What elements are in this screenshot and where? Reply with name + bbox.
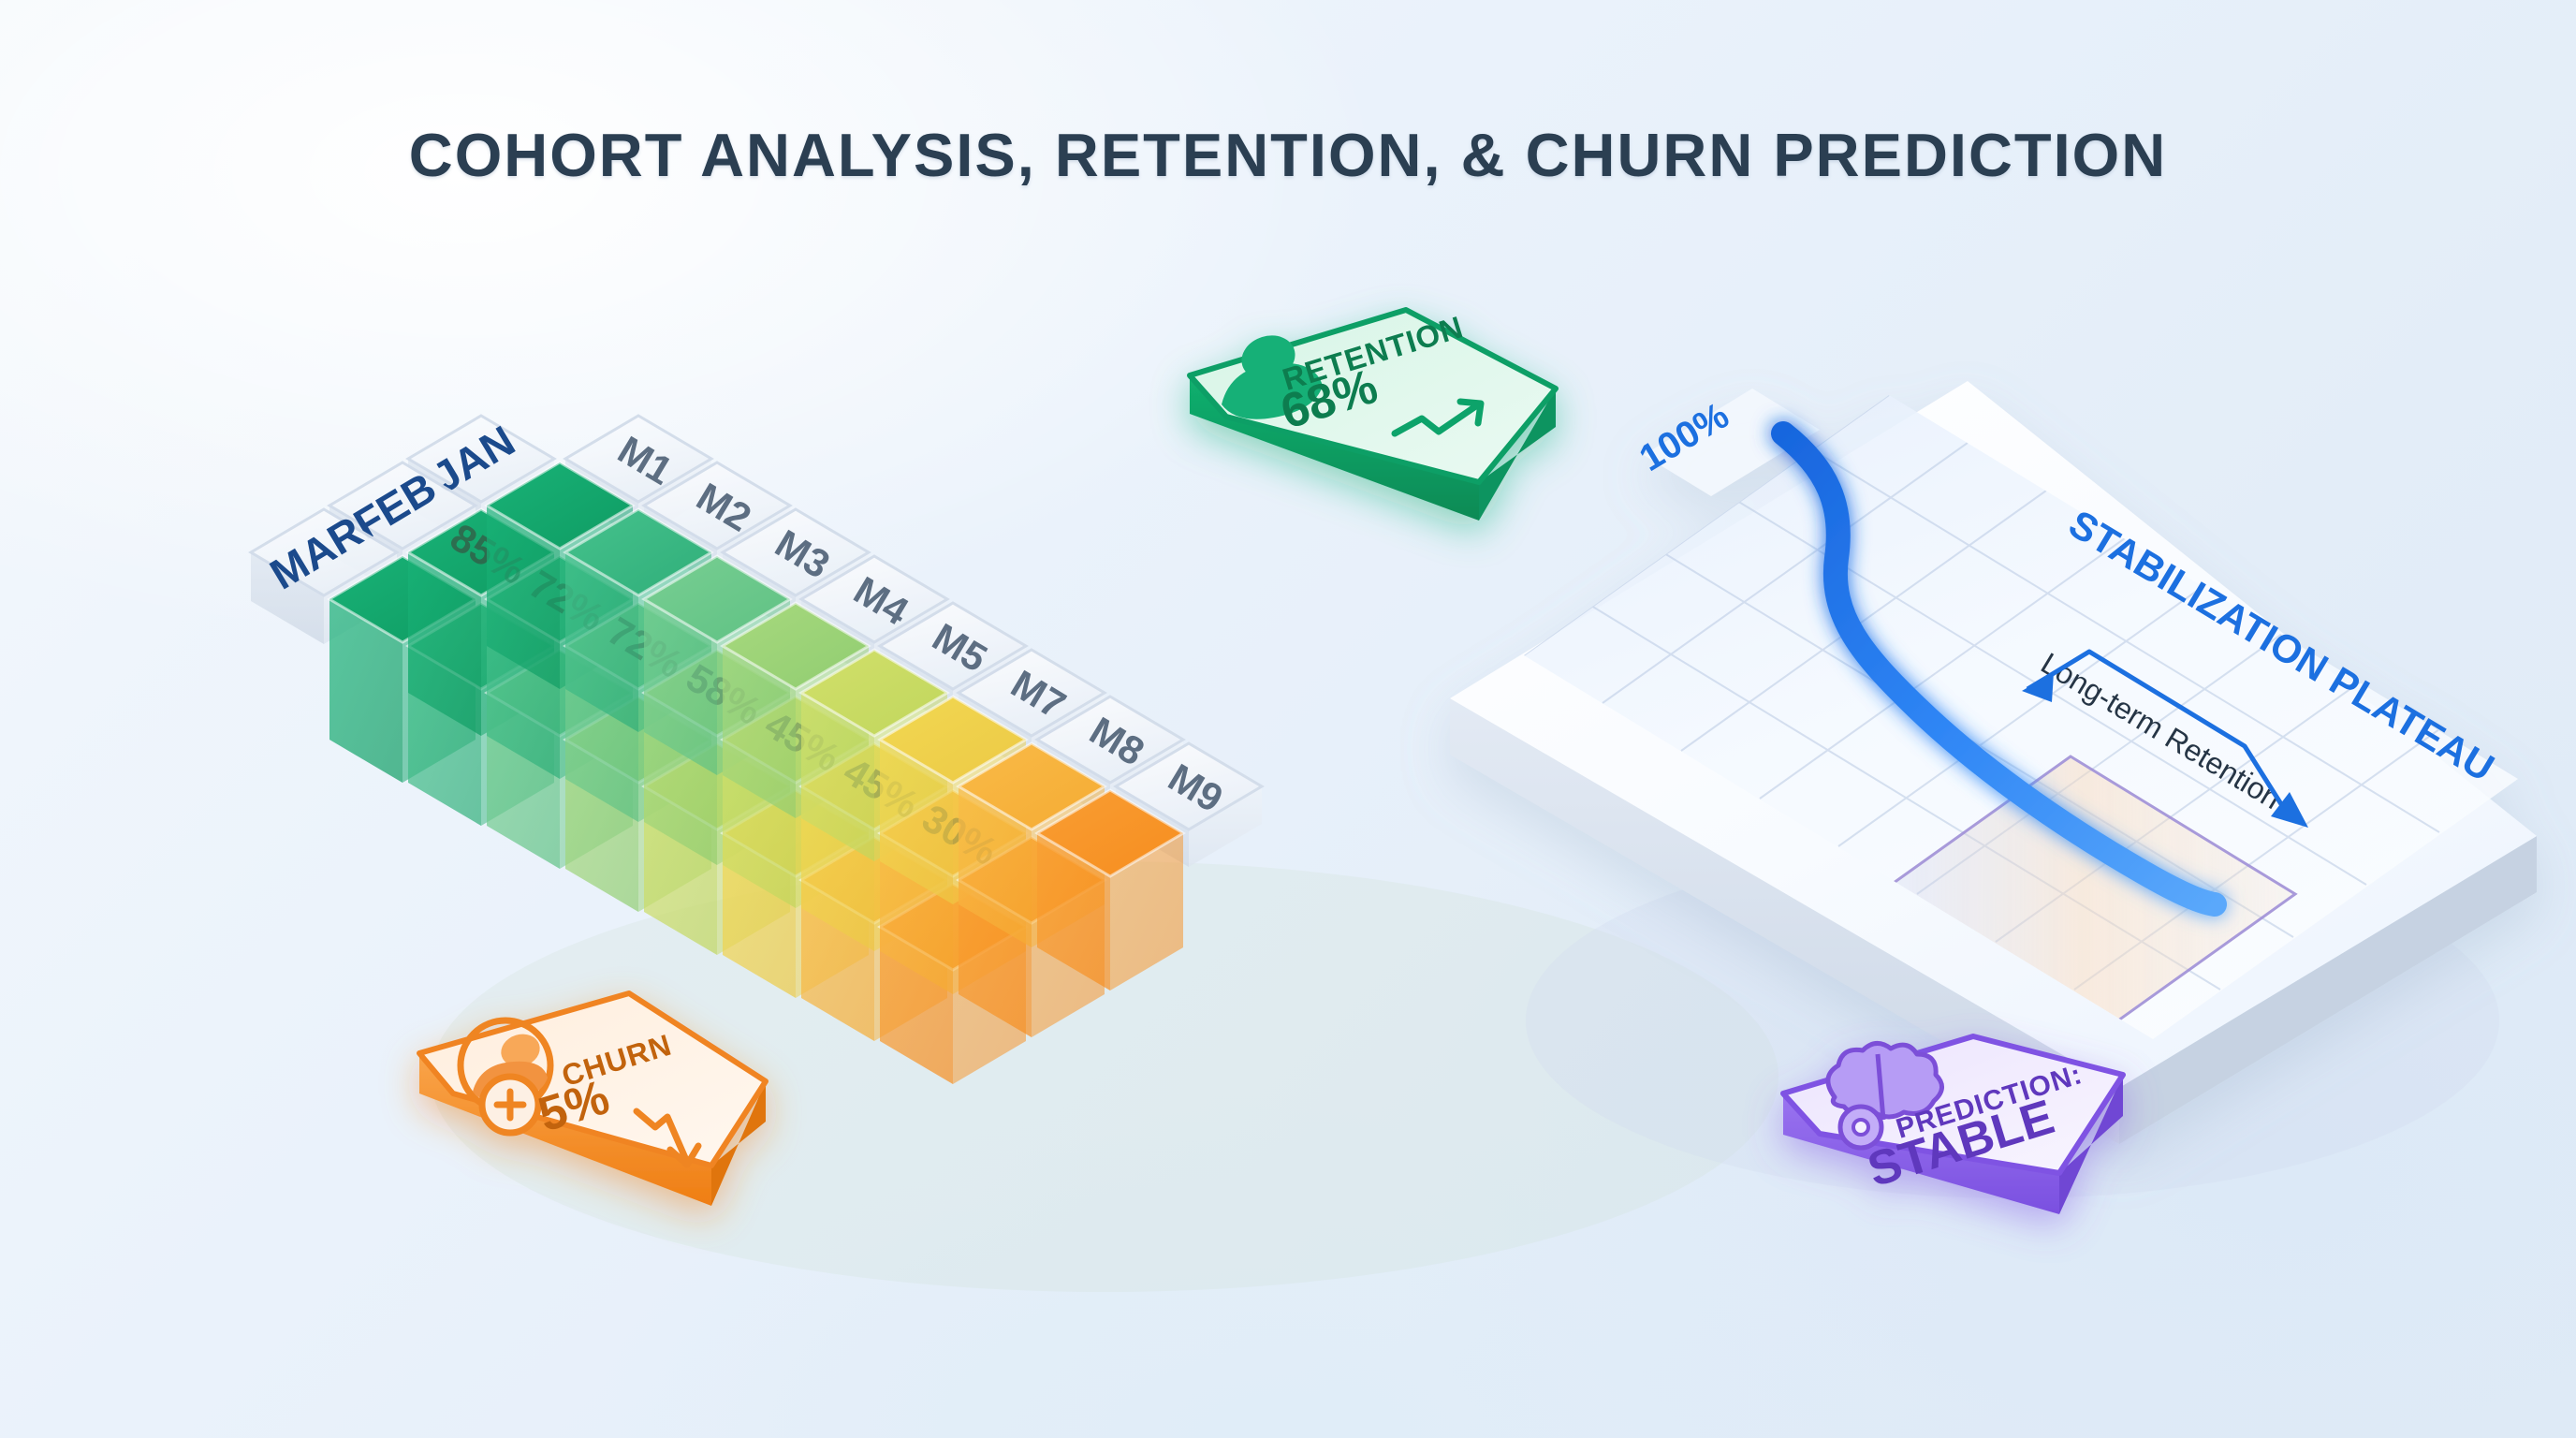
retention-badge[interactable]: RETENTION 68%: [1190, 300, 1559, 521]
infographic-canvas: COHORT ANALYSIS, RETENTION, & CHURN PRED…: [0, 0, 2576, 1438]
iso-scene: 100% STABILIZATION PLATEAU Long-term Ret…: [0, 0, 2576, 1438]
